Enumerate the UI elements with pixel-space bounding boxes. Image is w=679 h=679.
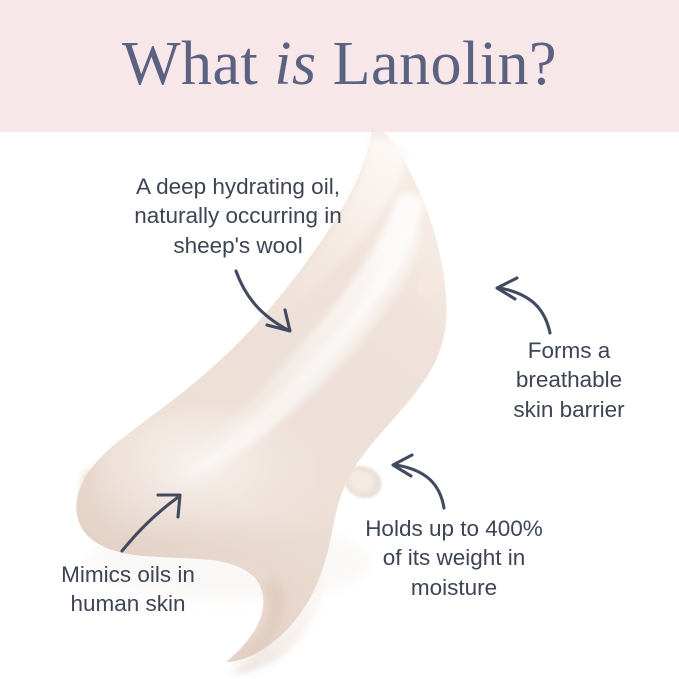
callout-mimics-skin-oils: Mimics oils in human skin <box>28 560 228 619</box>
page-title-part2: Lanolin? <box>317 30 557 98</box>
page-title: What is Lanolin? <box>122 33 557 99</box>
infographic-page: What is Lanolin? <box>0 0 679 679</box>
page-title-part1: What <box>122 30 274 98</box>
callout-hydrating-oil: A deep hydrating oil, naturally occurrin… <box>104 172 372 260</box>
header-band: What is Lanolin? <box>0 0 679 132</box>
callout-skin-barrier: Forms a breathable skin barrier <box>478 336 660 424</box>
callout-moisture-retention: Holds up to 400% of its weight in moistu… <box>335 514 573 602</box>
page-title-emphasis: is <box>274 30 316 98</box>
